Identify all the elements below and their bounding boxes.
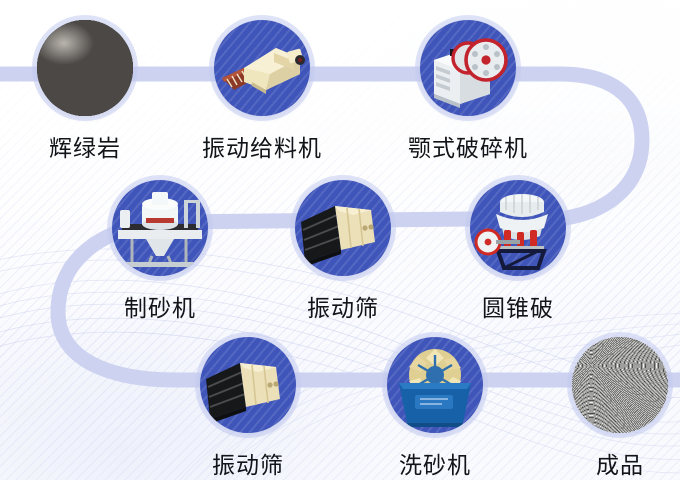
jaw-crusher-illustration: [420, 20, 516, 116]
sand-washer-illustration: [387, 337, 483, 433]
node-disc-jaw-crusher[interactable]: [420, 20, 516, 116]
vibrating-screen-illustration: [295, 180, 391, 276]
node-disc-raw-material[interactable]: [37, 20, 133, 116]
sand-maker-illustration: [112, 180, 208, 276]
node-label-raw-material: 辉绿岩: [49, 129, 121, 163]
node-label-vibrating-screen-2: 振动筛: [212, 446, 284, 480]
node-disc-finished-product[interactable]: [572, 337, 668, 433]
node-label-vibrating-screen-1: 振动筛: [307, 289, 379, 323]
node-label-sand-maker: 制砂机: [124, 289, 196, 323]
node-disc-cone-crusher[interactable]: [470, 180, 566, 276]
finished-sand-photo: [572, 337, 668, 433]
rock-photo: [37, 20, 133, 116]
vibrating-screen-illustration: [200, 337, 296, 433]
node-label-jaw-crusher: 颚式破碎机: [408, 129, 528, 163]
flowchart-canvas: 辉绿岩: [0, 0, 680, 480]
node-label-sand-washer: 洗砂机: [399, 446, 471, 480]
node-label-cone-crusher: 圆锥破: [482, 289, 554, 323]
node-disc-vibrating-screen-1[interactable]: [295, 180, 391, 276]
node-disc-sand-washer[interactable]: [387, 337, 483, 433]
node-disc-vibrating-screen-2[interactable]: [200, 337, 296, 433]
node-disc-sand-maker[interactable]: [112, 180, 208, 276]
node-label-finished-product: 成品: [596, 446, 644, 480]
node-disc-vibrating-feeder[interactable]: [214, 20, 310, 116]
cone-crusher-illustration: [470, 180, 566, 276]
node-label-vibrating-feeder: 振动给料机: [202, 129, 322, 163]
vibrating-feeder-illustration: [214, 20, 310, 116]
